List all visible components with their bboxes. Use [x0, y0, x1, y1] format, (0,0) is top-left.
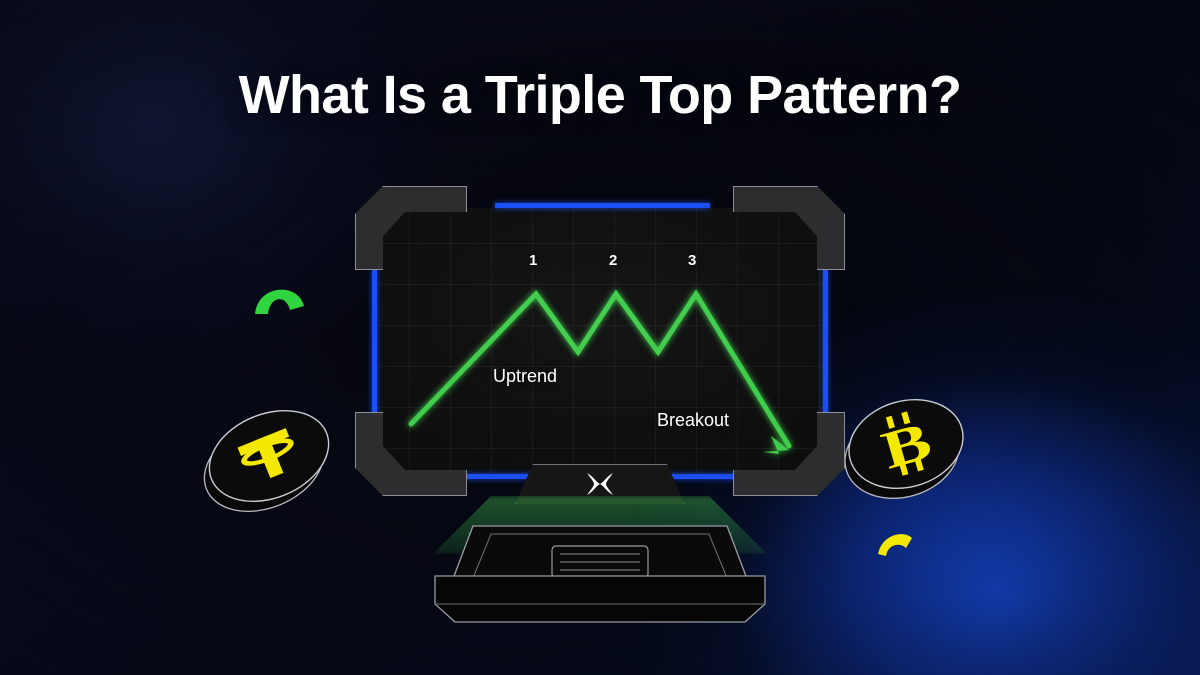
bezel-accent-right	[823, 270, 828, 416]
bitcoin-coin: B	[836, 388, 972, 506]
page-title: What Is a Triple Top Pattern?	[0, 64, 1200, 126]
bezel-accent-left	[372, 270, 377, 416]
bezel-accent-top	[495, 203, 710, 208]
green-arc-icon	[250, 272, 308, 316]
yellow-arc-icon	[876, 528, 914, 558]
chart-screen: 1 2 3 Uptrend Breakout	[377, 208, 823, 474]
stand-plinth	[435, 576, 765, 622]
top-label-3: 3	[688, 252, 696, 269]
breakout-label: Breakout	[657, 410, 729, 431]
infographic-canvas: What Is a Triple Top Pattern? B	[0, 0, 1200, 675]
top-label-2: 2	[609, 252, 617, 269]
uptrend-label: Uptrend	[493, 366, 557, 387]
tether-coin	[196, 398, 338, 518]
price-line	[411, 294, 789, 446]
top-label-1: 1	[529, 252, 537, 269]
triple-top-chart	[377, 208, 823, 474]
x-logo-icon	[585, 471, 615, 497]
monitor-stand	[415, 512, 785, 632]
monitor: 1 2 3 Uptrend Breakout	[355, 186, 845, 496]
